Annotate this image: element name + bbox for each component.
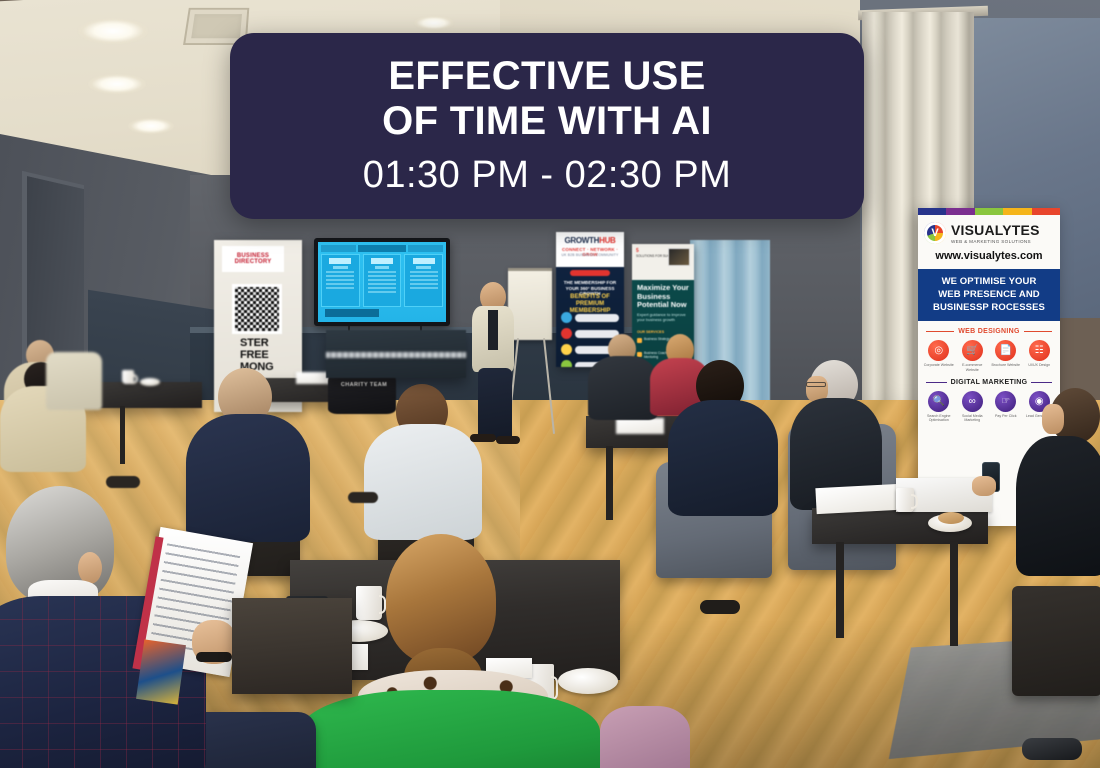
visualytes-header: V VISUALYTES WEB & MARKETING SOLUTIONS xyxy=(918,215,1060,246)
visualytes-headline-1: WE OPTIMISE YOUR xyxy=(923,276,1055,289)
screenshot-root: BUSINESS DIRECTORY STER FREE MONG K+ SSE… xyxy=(0,0,1100,768)
shoe xyxy=(348,492,378,503)
visualytes-headline-2: WEB PRESENCE AND xyxy=(923,289,1055,302)
service-item: 🛒 E-commerce Website xyxy=(957,340,987,371)
attendee-body xyxy=(588,356,658,420)
visualytes-brand: VISUALYTES xyxy=(951,223,1040,237)
visualytes-logo-icon: V xyxy=(924,222,946,244)
visualytes-web-services: ◎ Corporate Website 🛒 E-commerce Website… xyxy=(918,337,1060,371)
section-title-web-designing: WEB DESIGNING xyxy=(958,328,1019,335)
presenter-legs xyxy=(478,368,512,440)
document-icon: 📄 xyxy=(995,340,1016,361)
ceiling-downlight xyxy=(78,18,148,44)
visualytes-website-url: www.visualytes.com xyxy=(918,246,1060,269)
visualytes-section-digital: DIGITAL MARKETING xyxy=(918,372,1060,388)
growthhub-pill xyxy=(570,270,610,276)
table-leg xyxy=(950,542,958,646)
coffee-mug xyxy=(896,488,914,512)
teal-banner-subtext: Expert guidance to improve your business… xyxy=(637,312,691,322)
attendee-face xyxy=(1042,404,1064,434)
share-icon: ∞ xyxy=(962,391,983,412)
slide-header-cell xyxy=(408,245,443,252)
teal-banner-services-label: OUR SERVICES xyxy=(637,330,664,334)
paper-document xyxy=(296,372,330,384)
visualytes-tagline: WEB & MARKETING SOLUTIONS xyxy=(951,239,1040,244)
directory-logo: BUSINESS DIRECTORY xyxy=(222,246,284,272)
pricing-card xyxy=(404,254,443,307)
paper-document xyxy=(815,484,900,514)
coffee-mug xyxy=(122,370,134,384)
service-item: 🔍 Search Engine Optimisation xyxy=(924,391,954,422)
presenter-shoe xyxy=(470,434,496,442)
pastry xyxy=(938,512,964,524)
chair xyxy=(46,352,102,410)
service-item: ☷ UI/UX Design xyxy=(1024,340,1054,371)
growthhub-subtagline: UK B2B BUSINESS COMMUNITY xyxy=(558,253,622,257)
session-time-range: 01:30 PM - 02:30 PM xyxy=(363,153,732,199)
growthhub-subhead-1: BENEFITS OF xyxy=(560,294,620,301)
cart-icon: 🛒 xyxy=(962,340,983,361)
attendee-body xyxy=(1016,436,1100,576)
attendee-head xyxy=(386,534,496,664)
session-title-card: EFFECTIVE USE OF TIME WITH AI 01:30 PM -… xyxy=(230,33,864,219)
saucer xyxy=(140,378,160,386)
wrist-band xyxy=(196,652,232,662)
attendee-body xyxy=(364,424,482,540)
slide-header-cell xyxy=(321,245,356,252)
service-item: ☞ Pay Per Click xyxy=(991,391,1021,422)
attendee-hand xyxy=(972,476,996,496)
flipchart-paper xyxy=(508,268,552,340)
table-leg xyxy=(836,542,844,638)
visualytes-color-strip xyxy=(918,208,1060,215)
attendee-body xyxy=(668,400,778,516)
ceiling-downlight xyxy=(128,118,174,134)
cabinet-trim xyxy=(326,352,466,358)
shoe xyxy=(700,600,740,614)
charity-team-hoodie-text: CHARITY TEAM xyxy=(336,382,392,388)
slide-cta-bar xyxy=(325,309,379,317)
chair xyxy=(1012,586,1100,696)
pricing-card xyxy=(363,254,402,307)
coffee-mug xyxy=(356,586,382,620)
session-title-line-1: EFFECTIVE USE xyxy=(388,54,705,99)
presenter-shoe xyxy=(496,436,520,444)
growthhub-logo: GROWTHHUB xyxy=(558,236,622,245)
click-icon: ☞ xyxy=(995,391,1016,412)
table-leg xyxy=(120,406,125,464)
teal-banner-headline: Maximize Your Business Potential Now xyxy=(637,284,691,310)
qr-code xyxy=(232,284,282,334)
table-leg xyxy=(606,446,613,520)
visualytes-section-web: WEB DESIGNING xyxy=(918,321,1060,337)
qr-line-2: FREE xyxy=(240,350,302,362)
growthhub-logo-accent: HUB xyxy=(599,236,615,245)
globe-icon: ◎ xyxy=(928,340,949,361)
slide-pricing-cards xyxy=(321,254,443,307)
visualytes-headline: WE OPTIMISE YOUR WEB PRESENCE AND BUSINE… xyxy=(918,269,1060,321)
paper-document xyxy=(616,418,664,434)
slide-header-cell-active xyxy=(358,245,407,252)
visualytes-digital-services: 🔍 Search Engine Optimisation ∞ Social Me… xyxy=(918,388,1060,422)
colorful-flyer xyxy=(136,639,186,704)
search-icon: 🔍 xyxy=(928,391,949,412)
growthhub-logo-main: GROWTH xyxy=(564,236,599,245)
service-item: ∞ Social Media Marketing xyxy=(957,391,987,422)
benefit-row xyxy=(561,312,619,323)
service-item: ◎ Corporate Website xyxy=(924,340,954,371)
visualytes-headline-3: BUSINESSP ROCESSES xyxy=(923,302,1055,315)
benefit-row xyxy=(561,328,619,339)
presentation-tv xyxy=(314,238,450,326)
attendee-body xyxy=(300,690,600,768)
tv-slide-pricing-table xyxy=(318,242,446,322)
ceiling-downlight xyxy=(414,16,454,30)
shoe xyxy=(106,476,140,488)
service-item: 📄 Brochure Website xyxy=(991,340,1021,371)
glasses-icon xyxy=(806,382,826,387)
attendee-pink-sleeve xyxy=(600,706,690,768)
shoe xyxy=(1022,738,1082,760)
section-title-digital-marketing: DIGITAL MARKETING xyxy=(951,379,1028,386)
presenter-shirt xyxy=(488,310,498,350)
attendee-body xyxy=(186,414,310,542)
slide-header xyxy=(321,245,443,252)
layout-icon: ☷ xyxy=(1029,340,1050,361)
saucer xyxy=(558,668,618,694)
attendee-ear xyxy=(78,552,102,584)
pricing-card xyxy=(321,254,360,307)
ceiling-downlight xyxy=(88,74,146,94)
session-title-line-2: OF TIME WITH AI xyxy=(382,99,712,144)
teal-banner-photo xyxy=(668,248,690,266)
table xyxy=(232,598,352,694)
